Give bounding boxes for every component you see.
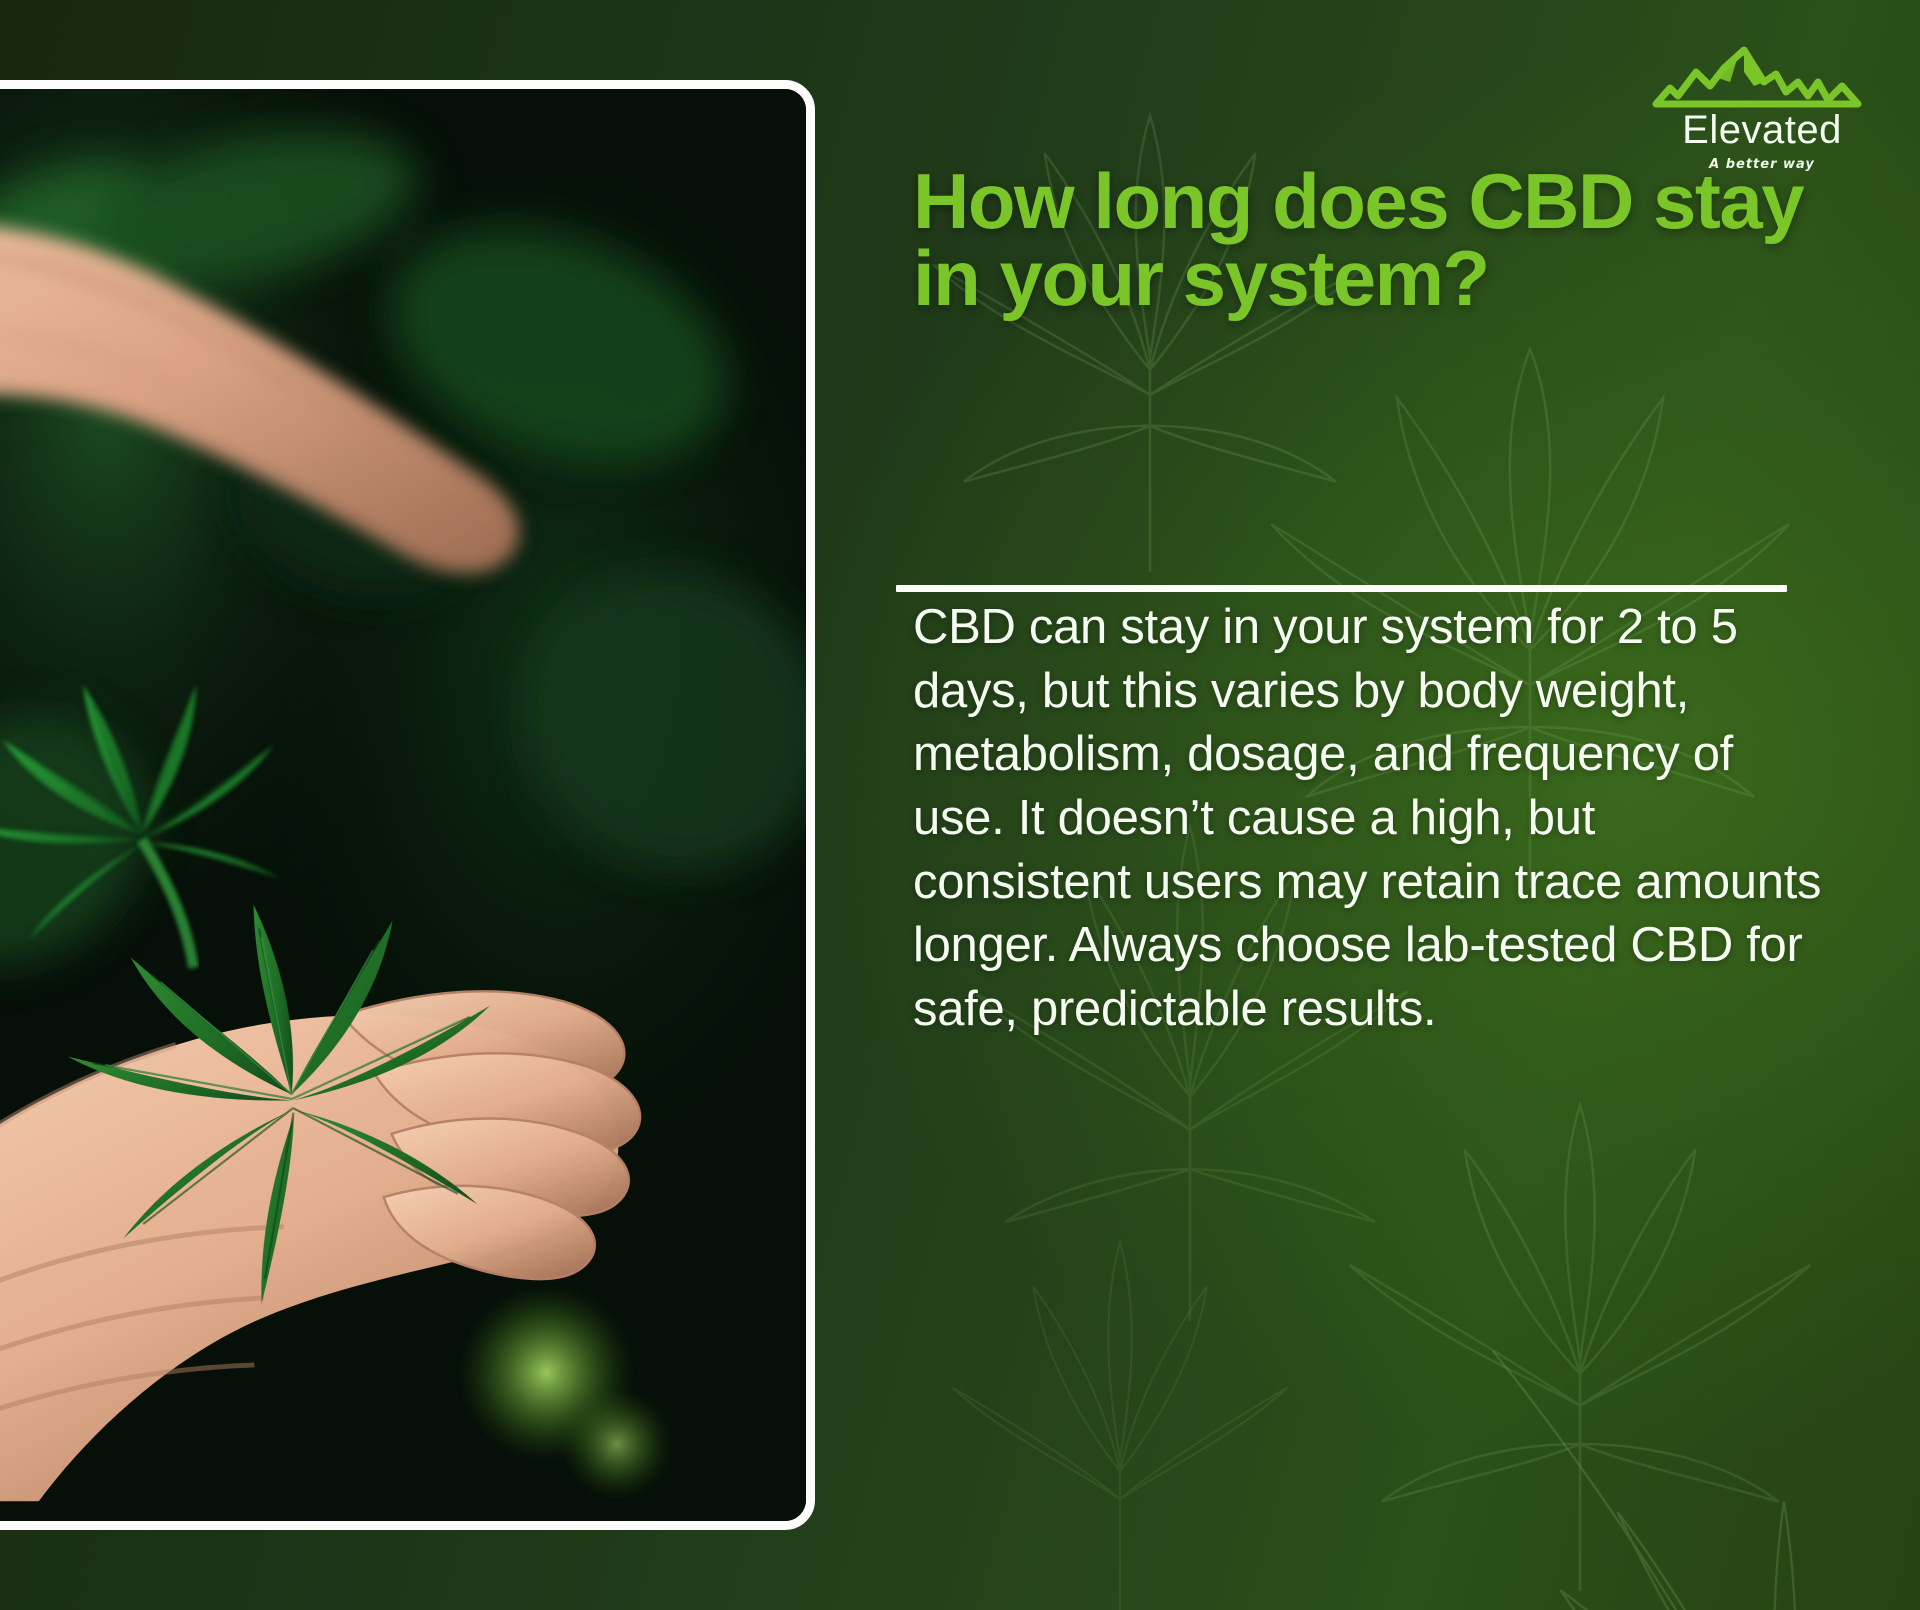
body-paragraph: CBD can stay in your system for 2 to 5 d…: [913, 596, 1823, 1042]
cannabis-leaf-watermark-icon: [1260, 1060, 1900, 1610]
mountain-range-icon: [1652, 42, 1872, 112]
cannabis-leaf-in-hand-illustration: [0, 89, 806, 1521]
social-post-card: Elevated A better way How long does CBD …: [0, 0, 1920, 1610]
cannabis-leaf-watermark-icon: [1420, 1330, 1920, 1610]
page-title: How long does CBD stay in your system?: [913, 163, 1813, 317]
brand-name: Elevated: [1652, 110, 1872, 150]
brand-logo[interactable]: Elevated A better way: [1652, 42, 1872, 172]
cannabis-leaf-watermark-icon: [840, 1180, 1400, 1610]
body-text: CBD can stay in your system for 2 to 5 d…: [913, 535, 1823, 1042]
hero-photo: [0, 89, 806, 1521]
hero-image-frame: [0, 80, 815, 1530]
